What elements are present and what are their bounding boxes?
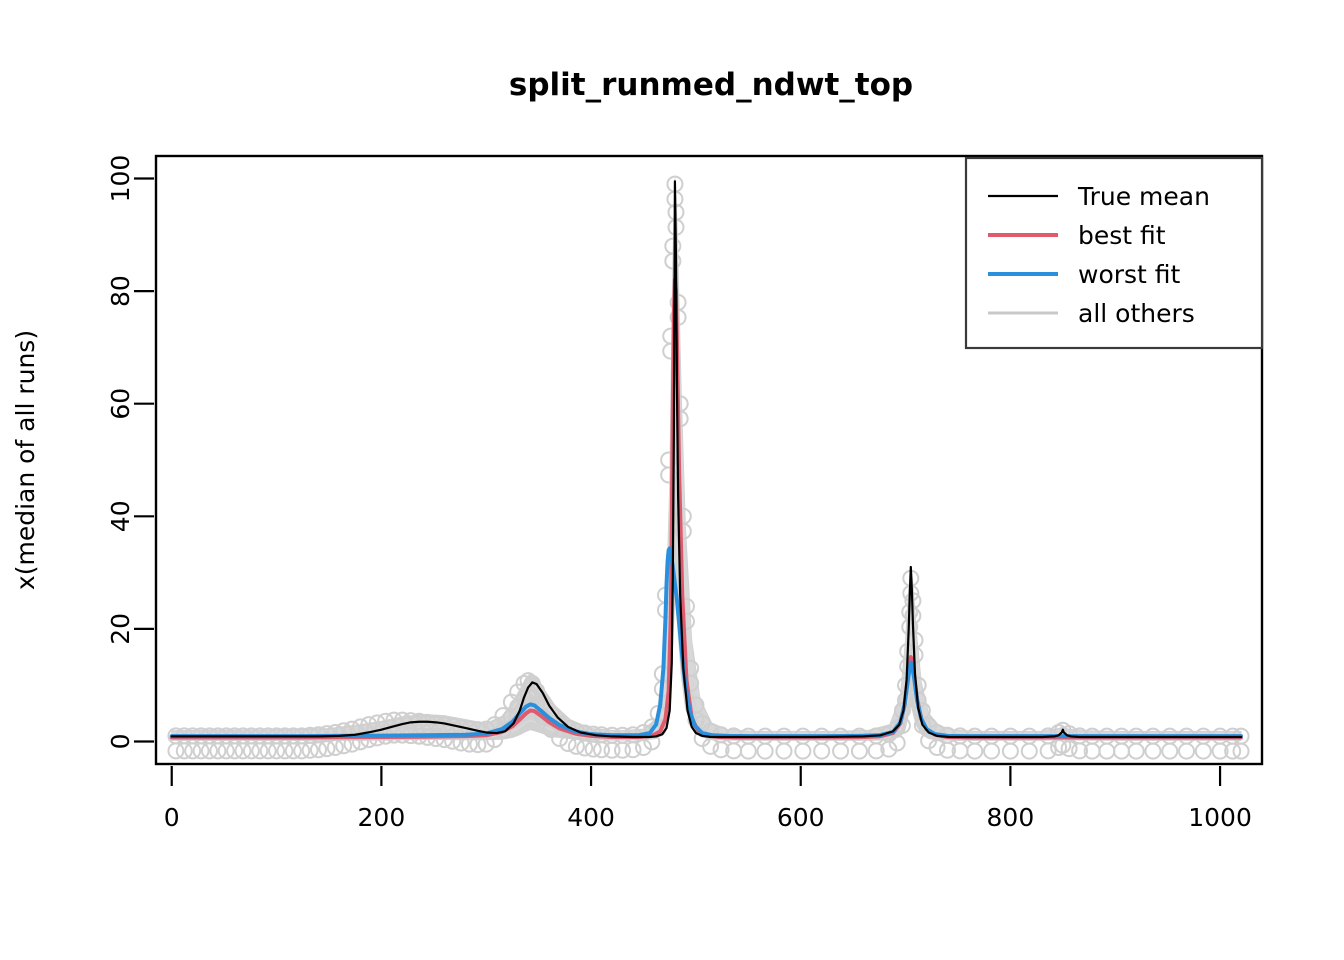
x-tick-label: 600 (777, 803, 825, 832)
chart-figure: split_runmed_ndwt_top x(median of all ru… (0, 0, 1344, 960)
x-tick-label: 1000 (1188, 803, 1252, 832)
data-point-marker (1003, 744, 1018, 759)
x-axis-ticks: 02004006008001000 (164, 766, 1252, 832)
y-tick-label: 40 (106, 500, 135, 532)
data-point-marker (1114, 744, 1129, 759)
chart-title: split_runmed_ndwt_top (509, 67, 913, 103)
legend-label-best-fit: best fit (1078, 221, 1166, 250)
x-tick-label: 800 (987, 803, 1035, 832)
data-point-marker (626, 742, 641, 757)
y-axis-ticks: 020406080100 (106, 155, 154, 750)
data-point-marker (1179, 744, 1194, 759)
data-point-marker (852, 744, 867, 759)
data-point-marker (833, 744, 848, 759)
y-tick-label: 20 (106, 613, 135, 645)
data-point-marker (1099, 744, 1114, 759)
data-point-marker (1129, 744, 1144, 759)
chart-canvas: split_runmed_ndwt_top x(median of all ru… (0, 0, 1344, 960)
legend-label-all-others: all others (1078, 299, 1195, 328)
y-tick-label: 100 (106, 155, 135, 203)
y-axis-label: x(median of all runs) (11, 330, 40, 590)
x-tick-label: 200 (358, 803, 406, 832)
all-others-run-trace (172, 526, 1241, 739)
series-line-worst-fit (172, 548, 1241, 736)
y-tick-label: 60 (106, 388, 135, 420)
data-point-marker (1162, 744, 1177, 759)
chart-legend: True meanbest fitworst fitall others (966, 158, 1262, 348)
x-tick-label: 400 (567, 803, 615, 832)
data-point-marker (1022, 744, 1037, 759)
data-point-marker (776, 744, 791, 759)
data-point-marker (967, 744, 982, 759)
legend-label-true-mean: True mean (1077, 182, 1210, 211)
data-point-marker (795, 744, 810, 759)
legend-label-worst-fit: worst fit (1078, 260, 1181, 289)
data-point-marker (758, 744, 773, 759)
y-tick-label: 80 (106, 275, 135, 307)
all-others-run-trace (172, 387, 1241, 736)
data-point-marker (984, 744, 999, 759)
all-others-run-trace (172, 456, 1241, 737)
data-point-marker (1196, 744, 1211, 759)
y-tick-label: 0 (106, 734, 135, 750)
all-others-run-trace (172, 317, 1241, 734)
data-point-marker (741, 744, 756, 759)
data-point-marker (1145, 744, 1160, 759)
data-point-marker (814, 744, 829, 759)
data-point-marker (1041, 743, 1056, 758)
x-tick-label: 0 (164, 803, 180, 832)
